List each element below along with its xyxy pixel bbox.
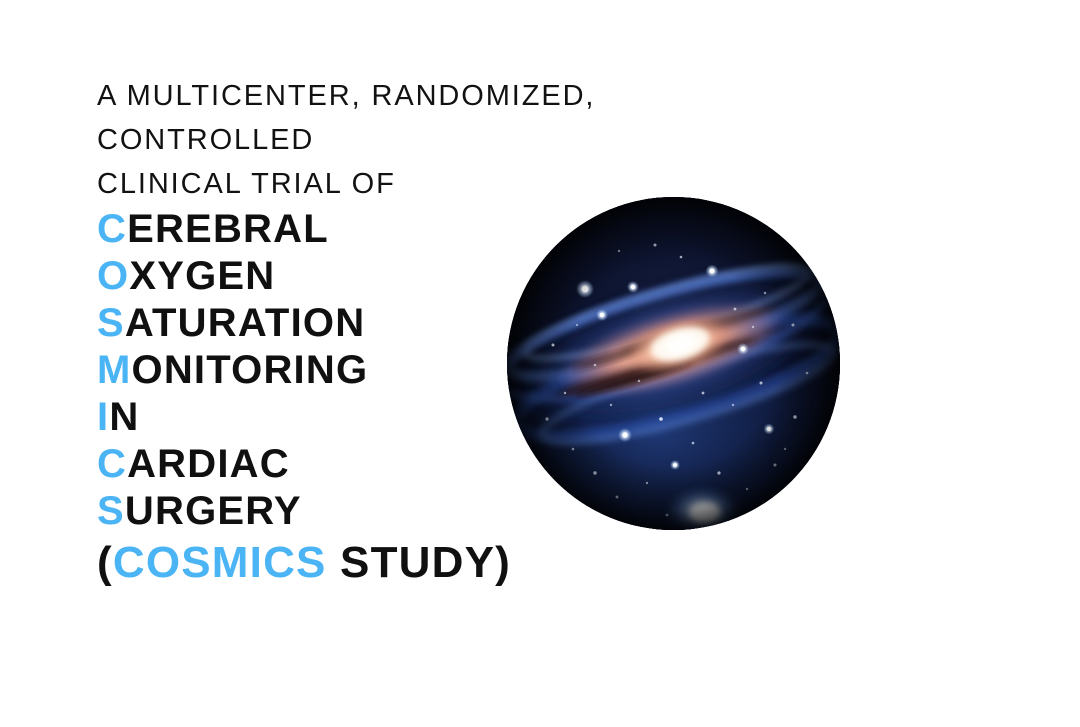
subtitle-line-3: CLINICAL TRIAL OF [97, 162, 717, 206]
acronym-initial-s1: S [97, 301, 125, 345]
acronym-initial-s2: S [97, 489, 125, 533]
open-paren: ( [97, 538, 113, 587]
acronym-initial-o: O [97, 254, 129, 298]
acronym-rest-monitoring: ONITORING [132, 348, 369, 392]
acronym-rest-surgery: URGERY [125, 489, 302, 533]
acronym-initial-m: M [97, 348, 132, 392]
galaxy-illustration [507, 197, 840, 530]
acronym-rest-saturation: ATURATION [125, 301, 365, 345]
acronym-initial-c2: C [97, 442, 127, 486]
slide-canvas: A MULTICENTER, RANDOMIZED, CONTROLLED CL… [0, 0, 1080, 727]
subtitle-line-1: A MULTICENTER, RANDOMIZED, [97, 74, 717, 118]
acronym-rest-cerebral: EREBRAL [127, 207, 329, 251]
acronym-initial-i: I [97, 395, 109, 439]
study-acronym-line: (COSMICS STUDY) [97, 537, 717, 589]
acronym-rest-oxygen: XYGEN [129, 254, 275, 298]
study-acronym: COSMICS [113, 538, 327, 587]
acronym-rest-in: N [109, 395, 139, 439]
study-word: STUDY) [327, 538, 511, 587]
acronym-rest-cardiac: ARDIAC [127, 442, 290, 486]
galaxy-image [507, 197, 840, 530]
acronym-initial-c1: C [97, 207, 127, 251]
subtitle-line-2: CONTROLLED [97, 118, 717, 162]
